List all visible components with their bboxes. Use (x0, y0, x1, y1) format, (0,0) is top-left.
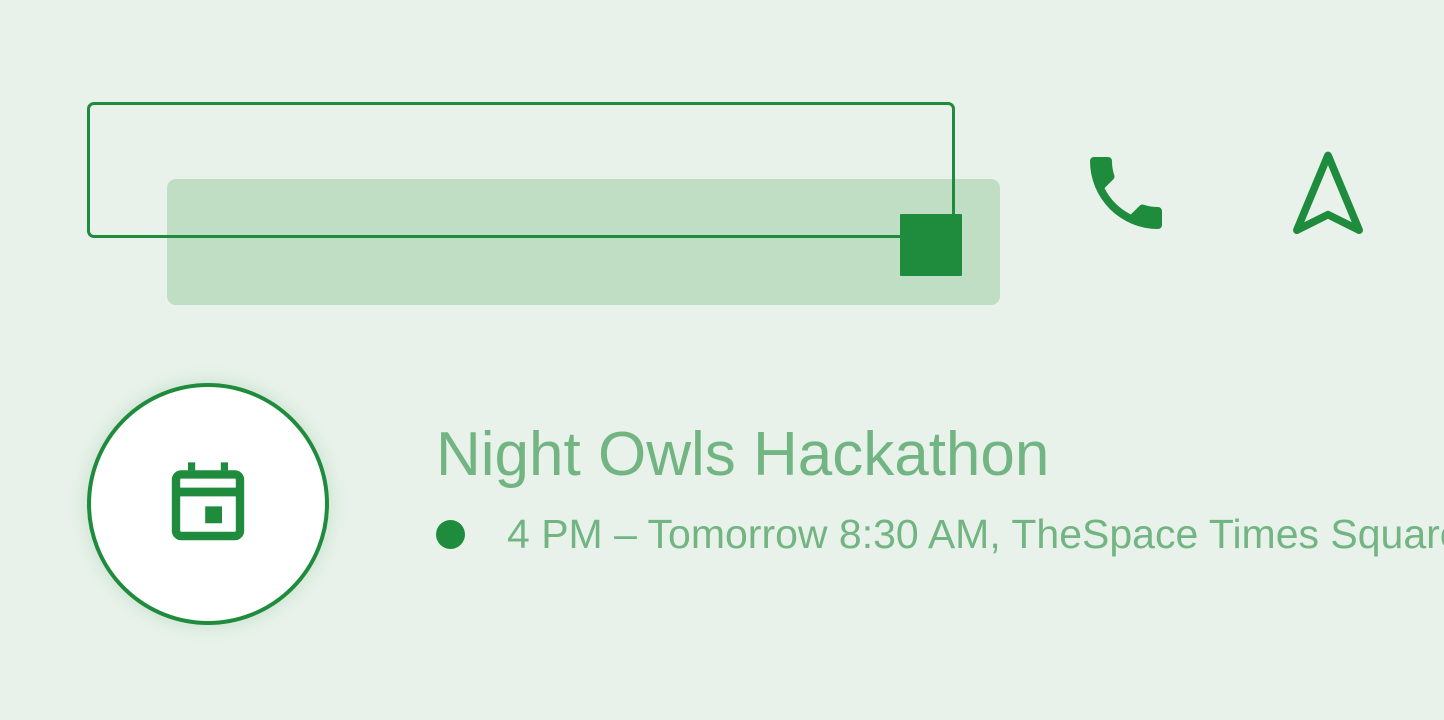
progress-thumb[interactable] (900, 214, 962, 276)
avatar (87, 383, 329, 625)
event-subline: 4 PM – Tomorrow 8:30 AM, TheSpace Times … (436, 508, 1444, 560)
status-badge (436, 520, 465, 549)
selection-outline-frame (87, 102, 955, 238)
phone-icon[interactable] (1078, 145, 1174, 241)
calendar-icon (160, 456, 256, 552)
event-text-block: Night Owls Hackathon 4 PM – Tomorrow 8:3… (436, 418, 1444, 560)
event-time-location: 4 PM – Tomorrow 8:30 AM, TheSpace Times … (507, 508, 1444, 560)
screen-root: Night Owls Hackathon 4 PM – Tomorrow 8:3… (0, 0, 1444, 720)
event-row[interactable]: Night Owls Hackathon 4 PM – Tomorrow 8:3… (0, 360, 1444, 720)
media-region (0, 0, 1444, 360)
navigation-arrow-icon[interactable] (1280, 145, 1376, 241)
page-title: Night Owls Hackathon (436, 418, 1444, 492)
